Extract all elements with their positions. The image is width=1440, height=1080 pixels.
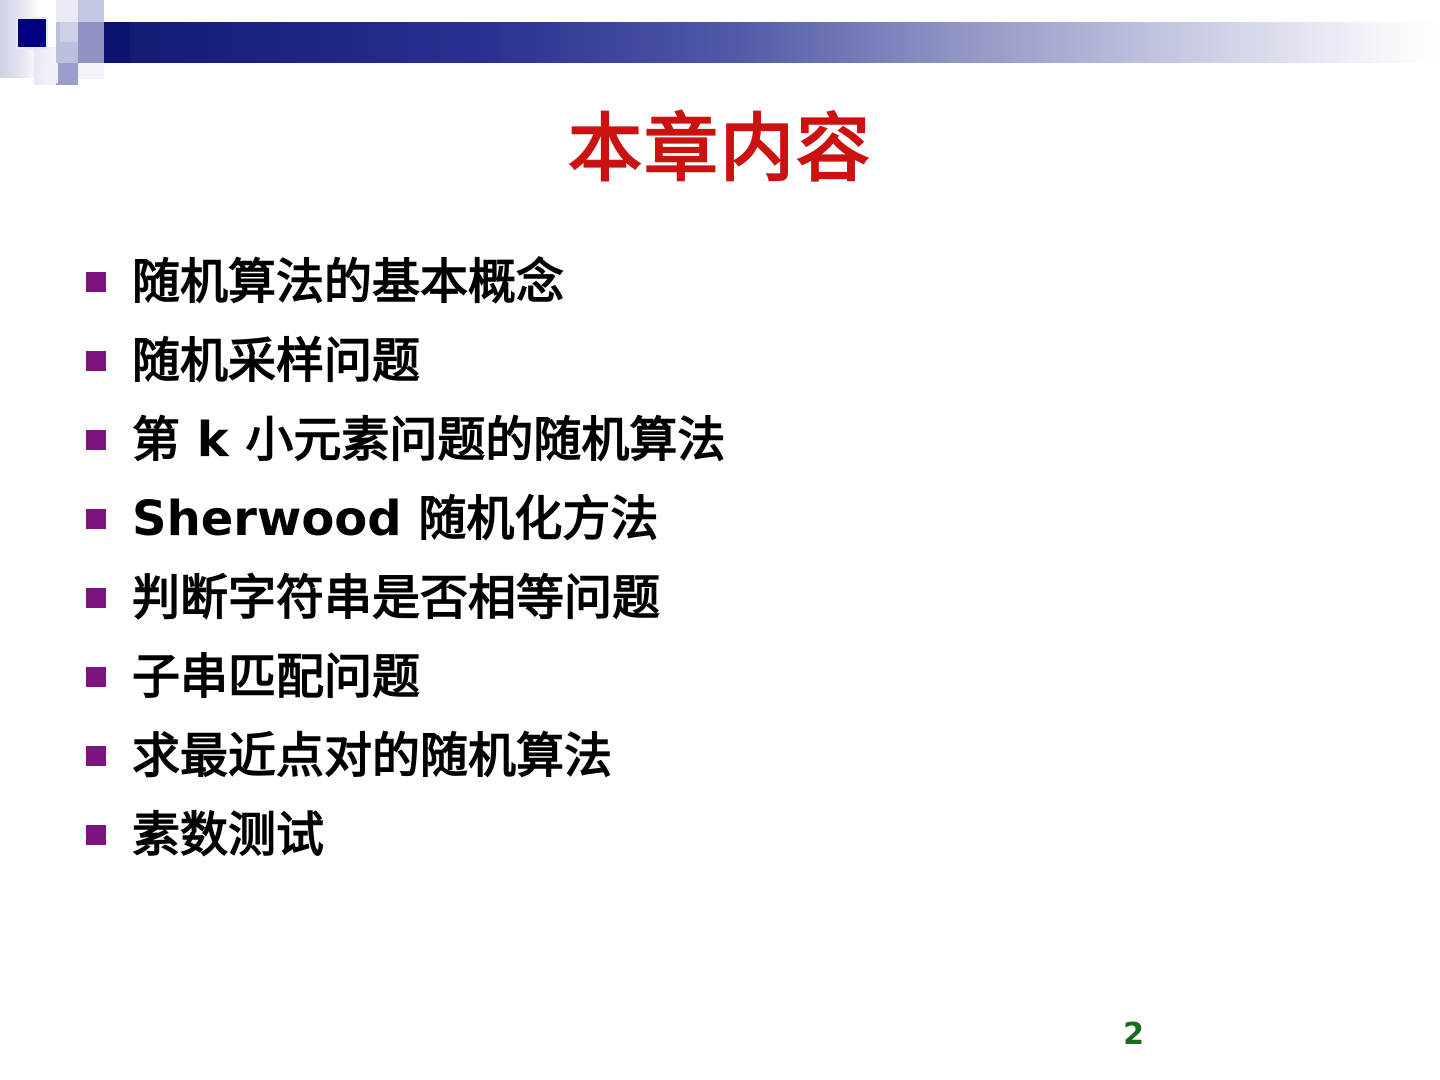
decoration-square-lavender-top <box>56 0 78 22</box>
list-item-label: 求最近点对的随机算法 <box>132 722 1366 790</box>
slide-header-decoration <box>0 0 1440 95</box>
decoration-gradient-bar <box>80 22 1440 63</box>
decoration-square-mid-fill <box>78 22 104 63</box>
list-item-label: Sherwood 随机化方法 <box>132 485 1366 553</box>
square-bullet-icon <box>86 430 106 450</box>
decoration-square-faint-two <box>78 63 104 79</box>
list-item-label: 子串匹配问题 <box>132 643 1366 711</box>
slide-title: 本章内容 <box>0 112 1440 186</box>
decoration-square-mid-top <box>78 0 104 22</box>
decoration-square-navy-main <box>18 19 46 47</box>
list-item-label: 第 k 小元素问题的随机算法 <box>132 406 1366 474</box>
bullet-list: 随机算法的基本概念 随机采样问题 第 k 小元素问题的随机算法 Sherwood… <box>86 248 1366 880</box>
list-item[interactable]: Sherwood 随机化方法 <box>86 485 1366 564</box>
slide-canvas: 本章内容 随机算法的基本概念 随机采样问题 第 k 小元素问题的随机算法 She… <box>0 0 1440 1080</box>
decoration-square-lavender-bottom <box>56 63 78 85</box>
square-bullet-icon <box>86 667 106 687</box>
page-number: 2 <box>1123 1017 1144 1052</box>
square-bullet-icon <box>86 351 106 371</box>
list-item-label: 随机算法的基本概念 <box>132 248 1366 316</box>
list-item[interactable]: 判断字符串是否相等问题 <box>86 564 1366 643</box>
list-item[interactable]: 随机采样问题 <box>86 327 1366 406</box>
list-item[interactable]: 随机算法的基本概念 <box>86 248 1366 327</box>
square-bullet-icon <box>86 825 106 845</box>
decoration-square-light-inner <box>60 22 78 42</box>
square-bullet-icon <box>86 272 106 292</box>
list-item[interactable]: 子串匹配问题 <box>86 643 1366 722</box>
square-bullet-icon <box>86 746 106 766</box>
list-item[interactable]: 素数测试 <box>86 801 1366 880</box>
square-bullet-icon <box>86 509 106 529</box>
list-item-label: 判断字符串是否相等问题 <box>132 564 1366 632</box>
list-item-label: 素数测试 <box>132 801 1366 869</box>
square-bullet-icon <box>86 588 106 608</box>
decoration-square-faint-one <box>44 63 58 83</box>
list-item[interactable]: 第 k 小元素问题的随机算法 <box>86 406 1366 485</box>
list-item-label: 随机采样问题 <box>132 327 1366 395</box>
decoration-square-navy-right <box>104 22 130 63</box>
list-item[interactable]: 求最近点对的随机算法 <box>86 722 1366 801</box>
